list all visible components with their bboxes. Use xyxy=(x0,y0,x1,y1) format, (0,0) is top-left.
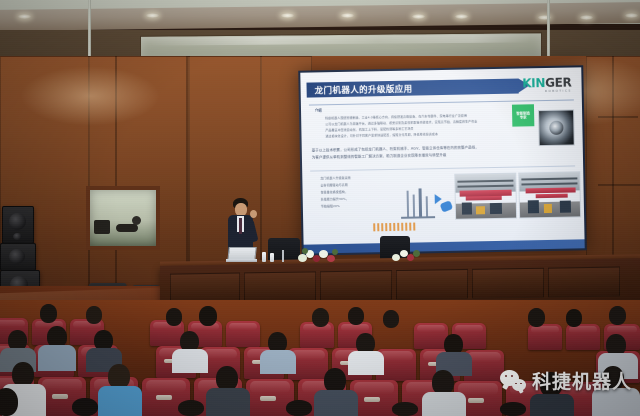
projection-screen: 龙门机器人的升级版应用 KINGER ROBOTICS 介绍 科捷机器人围绕智能… xyxy=(298,65,586,255)
seat xyxy=(528,324,562,350)
dais-panel xyxy=(472,268,544,299)
audience-head xyxy=(609,306,626,325)
window-silhouette xyxy=(132,216,141,225)
seat-number-plate xyxy=(52,394,68,399)
audience-shoulders xyxy=(530,394,574,416)
seat-number-plate xyxy=(468,398,484,403)
speaker-cabinet xyxy=(0,243,36,271)
wall-seam xyxy=(598,184,640,186)
flower-arrangement xyxy=(392,248,422,264)
water-bottle xyxy=(262,252,266,262)
speaker-cone-icon xyxy=(9,213,26,230)
logo-text-primary: KIN xyxy=(522,76,545,90)
audience-head xyxy=(528,308,545,327)
seat xyxy=(566,324,600,350)
flower xyxy=(327,255,335,262)
wechat-bubble-small xyxy=(512,379,526,391)
audience-head xyxy=(312,308,329,327)
slide-divider xyxy=(309,99,574,105)
photo-gantry xyxy=(536,194,568,199)
slide-lower-line: 龙门机器人升级版采用 xyxy=(320,175,390,181)
audience-shoulders xyxy=(260,350,296,374)
control-room-window xyxy=(86,186,160,250)
dais-panel xyxy=(170,273,240,304)
factory-photo xyxy=(518,171,581,218)
watermark-text: 科捷机器人 xyxy=(532,367,632,394)
speaker-cone-icon xyxy=(9,249,25,264)
audience-head xyxy=(199,306,217,326)
downlight-icon xyxy=(580,15,593,20)
audience-shoulders xyxy=(38,345,76,371)
dais-panel xyxy=(244,271,316,302)
photo-machine xyxy=(560,201,571,213)
dais-panel xyxy=(396,269,468,300)
audience-shoulders xyxy=(422,392,466,416)
slide-lower-line: 节拍缩短20% xyxy=(321,203,391,209)
photo-machine xyxy=(490,203,502,214)
downlight-icon xyxy=(455,14,468,19)
photo-gantry xyxy=(526,187,576,193)
seat xyxy=(226,321,260,347)
flower-arrangement xyxy=(296,246,340,266)
downlight-icon xyxy=(412,14,425,19)
audience-head xyxy=(72,398,98,416)
photo-machine xyxy=(528,200,539,213)
downlight-icon xyxy=(281,13,294,18)
water-bottle xyxy=(270,253,274,262)
seat-number-plate xyxy=(260,396,276,401)
diagram-column xyxy=(426,196,428,216)
seat-number-plate xyxy=(156,395,172,400)
downlight-icon xyxy=(146,13,159,18)
diagram-column xyxy=(419,188,423,216)
audience-head xyxy=(40,304,57,323)
audience-head xyxy=(348,307,364,325)
audience-shoulders xyxy=(314,390,358,416)
speaker-cabinet xyxy=(2,206,34,244)
ceiling-mullion xyxy=(547,0,550,62)
presenter-hand xyxy=(250,210,257,218)
watermark: 科捷机器人 xyxy=(500,367,632,394)
speaker-cone-icon xyxy=(13,233,22,240)
audience-head xyxy=(166,308,182,326)
presentation-slide: 龙门机器人的升级版应用 KINGER ROBOTICS 介绍 科捷机器人围绕智能… xyxy=(300,67,584,253)
audience-head xyxy=(0,388,18,416)
dais-panel xyxy=(320,270,392,301)
kinger-logo: KINGER ROBOTICS xyxy=(522,77,572,94)
wall-seam xyxy=(186,56,188,286)
green-badge: 智能制造 专家 xyxy=(512,104,534,126)
audience-area xyxy=(0,300,640,416)
diagram-baseline xyxy=(401,216,435,218)
audience-head xyxy=(500,402,526,416)
product-photo-brake-disc xyxy=(538,109,575,146)
downlight-icon xyxy=(341,13,354,18)
diagram-column xyxy=(413,195,415,217)
audience-head xyxy=(383,310,399,328)
slide-lower-line: 全新伺服驱动与高刚 xyxy=(320,182,390,188)
foliage xyxy=(413,250,420,257)
photo-pallet xyxy=(544,204,552,213)
photo-pallet xyxy=(476,206,485,214)
laptop-base xyxy=(226,259,257,262)
microphone-stand xyxy=(282,250,284,262)
audience-shoulders xyxy=(172,349,208,373)
photo-gantry xyxy=(466,196,502,201)
audience-head xyxy=(392,402,418,416)
window-silhouette xyxy=(116,224,138,232)
audience-shoulders xyxy=(206,388,250,416)
diagram-column xyxy=(407,191,409,217)
foliage xyxy=(332,249,338,255)
audience-head xyxy=(286,400,312,416)
audience-head xyxy=(86,306,102,324)
screenshot-root: 龙门机器人的升级版应用 KINGER ROBOTICS 介绍 科捷机器人围绕智能… xyxy=(0,0,640,416)
factory-photo xyxy=(454,173,517,220)
presenter-tie xyxy=(239,218,242,234)
dais-panel xyxy=(548,267,620,298)
seat-number-plate xyxy=(364,397,380,402)
wall-highlight xyxy=(20,66,160,126)
slide-divider xyxy=(310,165,575,171)
slide-lower-line: 性轻量化横梁结构， xyxy=(321,189,391,195)
slide-lower-line: 负载能力提升30%， xyxy=(321,196,391,202)
slide-section-label: 介绍 xyxy=(315,108,322,113)
audience-shoulders xyxy=(98,386,142,416)
badge-line-2: 专家 xyxy=(520,115,527,119)
audience-shoulders xyxy=(348,351,384,375)
audience-head xyxy=(566,309,582,327)
flower xyxy=(392,254,400,261)
seat xyxy=(414,323,448,349)
ceiling-mullion xyxy=(88,0,91,62)
diagram-orange-label xyxy=(373,222,417,231)
audience-head xyxy=(178,400,204,416)
wechat-icon xyxy=(500,370,526,392)
foliage xyxy=(302,248,308,254)
downlight-icon xyxy=(625,13,638,18)
photo-machine xyxy=(462,202,472,214)
window-silhouette xyxy=(94,220,110,234)
diagram-node xyxy=(440,200,454,212)
downlight-icon xyxy=(18,14,31,19)
